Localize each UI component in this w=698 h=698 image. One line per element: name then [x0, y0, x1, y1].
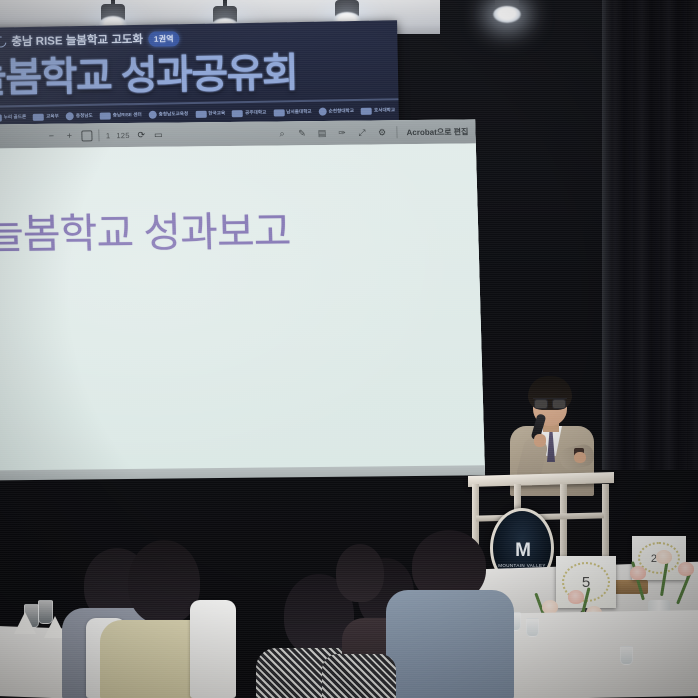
water-glass — [620, 646, 633, 665]
torso — [322, 654, 396, 698]
settings-icon[interactable]: ⚙ — [376, 127, 387, 138]
head — [336, 544, 384, 602]
glasses-icon — [533, 398, 567, 408]
page-number-field[interactable]: 1 — [106, 131, 111, 140]
screen-surface: 천안시 − + 1 125 ⟳ ▭ ⌕ ✎ ▤ ✑ ⤢ ⚙ — [0, 119, 485, 476]
mountain-logo-icon: M — [515, 541, 529, 560]
partner-logo: 충청남도 — [66, 112, 93, 120]
toolbar-separator — [99, 129, 100, 141]
slide-title: 늘봄학교 성과보고 — [0, 197, 291, 260]
chair — [190, 600, 236, 698]
pdf-zoom-tools[interactable]: − + — [46, 130, 93, 141]
spotlight-4 — [490, 0, 524, 24]
banner-title: 늘봄학교 성과공유회 — [0, 40, 298, 104]
search-icon[interactable]: ⌕ — [276, 128, 287, 139]
curtain-edge-highlight — [602, 0, 612, 470]
zoom-in-icon[interactable]: + — [64, 130, 75, 141]
highlight-icon[interactable]: ✎ — [296, 128, 307, 139]
torso — [386, 590, 514, 698]
speaker-hand-right — [574, 452, 586, 463]
partner-logo: 남서울대학교 — [273, 108, 311, 116]
partner-logo: 공주대학교 — [232, 109, 266, 117]
erase-icon[interactable]: ▤ — [316, 127, 327, 138]
projection-screen: 천안시 − + 1 125 ⟳ ▭ ⌕ ✎ ▤ ✑ ⤢ ⚙ — [0, 119, 485, 476]
partner-logo: 한국교육 — [195, 110, 225, 118]
partner-logo: 교육부 — [33, 113, 59, 120]
carnation-bloom — [568, 590, 584, 604]
speaker-hand-left — [534, 434, 546, 447]
partner-logo: 충남RISE 센터 — [100, 111, 142, 119]
partner-logo: 순천향대학교 — [319, 107, 355, 116]
banner-subtitle-row: 충남 RISE 늘봄학교 고도화 1권역 — [0, 30, 180, 49]
water-glass — [526, 618, 539, 637]
zoom-out-icon[interactable]: − — [46, 130, 57, 141]
carnation-bloom — [678, 562, 694, 576]
stage-curtain — [606, 0, 698, 470]
comment-icon[interactable]: ✑ — [336, 127, 347, 138]
carnation-bloom — [656, 550, 672, 564]
slide-content: 늘봄학교 성과보고 — [0, 143, 485, 476]
lectern-top — [468, 472, 614, 487]
banner-subtitle: 충남 RISE 늘봄학교 고도화 — [11, 31, 143, 49]
banner-region-badge: 1권역 — [148, 31, 180, 47]
banner-divider — [0, 98, 399, 107]
partner-logo: 호서대학교 — [361, 107, 395, 115]
fit-page-icon[interactable] — [82, 130, 93, 141]
carnation-bloom — [630, 566, 646, 580]
pdf-right-tools[interactable]: ⌕ ✎ ▤ ✑ ⤢ ⚙ Acrobat으로 편집 — [276, 125, 468, 139]
fullscreen-icon[interactable]: ⤢ — [356, 127, 367, 138]
partner-logo: 충청남도교육청 — [149, 110, 189, 119]
zoom-level-value[interactable]: 125 — [116, 131, 130, 140]
conference-photo: 충남 RISE 늘봄학교 고도화 1권역 늘봄학교 성과공유회 누리 골드론 교… — [0, 0, 698, 698]
folded-napkin — [14, 612, 36, 634]
page-view-icon[interactable]: ▭ — [153, 129, 164, 140]
event-banner: 충남 RISE 늘봄학교 고도화 1권역 늘봄학교 성과공유회 누리 골드론 교… — [0, 20, 399, 128]
edit-with-acrobat-button[interactable]: Acrobat으로 편집 — [406, 126, 468, 138]
rotate-icon[interactable]: ⟳ — [136, 129, 147, 140]
rise-mark-icon — [0, 34, 9, 49]
partner-logo: 누리 골드론 — [0, 114, 26, 122]
